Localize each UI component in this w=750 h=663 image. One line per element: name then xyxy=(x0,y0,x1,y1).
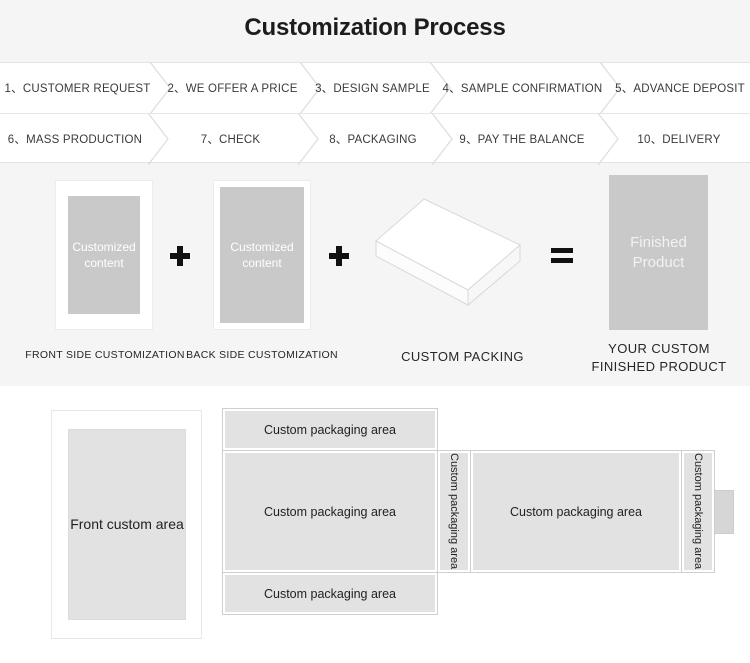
step-3[interactable]: 3、DESIGN SAMPLE xyxy=(310,63,435,113)
front-side-caption: FRONT SIDE CUSTOMIZATION xyxy=(15,348,195,362)
dieline-right-side-panel[interactable]: Custom packaging area xyxy=(681,450,715,573)
plus-operator-icon xyxy=(170,246,190,266)
front-side-swatch: Customized content xyxy=(68,196,140,314)
plus-operator-icon xyxy=(329,246,349,266)
front-side-card: Customized content xyxy=(55,180,153,330)
finished-product-caption: YOUR CUSTOM FINISHED PRODUCT xyxy=(585,340,733,375)
step-9[interactable]: 9、PAY THE BALANCE xyxy=(442,114,602,164)
dieline-center-panel[interactable]: Custom packaging area xyxy=(470,450,682,573)
top-section: Customization Process 1、CUSTOMER REQUEST… xyxy=(0,0,750,386)
dieline-main-panel[interactable]: Custom packaging area xyxy=(222,450,438,573)
step-1[interactable]: 1、CUSTOMER REQUEST xyxy=(0,63,155,113)
step-10[interactable]: 10、DELIVERY xyxy=(608,114,750,164)
front-custom-area-panel[interactable]: Front custom area xyxy=(68,429,186,620)
finished-product-swatch: Finished Product xyxy=(609,175,708,330)
front-custom-area-frame: Front custom area xyxy=(51,410,202,639)
customization-equation: Customized content FRONT SIDE CUSTOMIZAT… xyxy=(0,170,750,375)
dieline-top-flap[interactable]: Custom packaging area xyxy=(222,408,438,451)
step-7[interactable]: 7、CHECK xyxy=(158,114,303,164)
dieline-right-side-label: Custom packaging area xyxy=(692,453,704,569)
back-side-card: Customized content xyxy=(213,180,311,330)
process-steps-row-1: 1、CUSTOMER REQUEST 2、WE OFFER A PRICE 3、… xyxy=(0,63,750,113)
back-side-caption: BACK SIDE CUSTOMIZATION xyxy=(172,348,352,362)
step-5[interactable]: 5、ADVANCE DEPOSIT xyxy=(610,63,750,113)
back-side-swatch: Customized content xyxy=(220,187,304,323)
custom-packing-caption: CUSTOM PACKING xyxy=(370,348,555,366)
step-8[interactable]: 8、PACKAGING xyxy=(308,114,438,164)
dieline-left-side-panel[interactable]: Custom packaging area xyxy=(437,450,471,573)
process-steps-block: 1、CUSTOMER REQUEST 2、WE OFFER A PRICE 3、… xyxy=(0,62,750,163)
page-title: Customization Process xyxy=(0,14,750,42)
dieline-left-side-label: Custom packaging area xyxy=(448,453,460,569)
bottom-section: Front custom area Custom packaging area … xyxy=(0,386,750,663)
dieline-glue-tab[interactable] xyxy=(714,490,734,534)
custom-packing-box-illustration xyxy=(372,195,552,320)
customization-process-page: Customization Process 1、CUSTOMER REQUEST… xyxy=(0,0,750,663)
packaging-dieline: Custom packaging area Custom packaging a… xyxy=(222,408,727,640)
equals-operator-icon xyxy=(551,248,573,264)
dieline-bottom-flap[interactable]: Custom packaging area xyxy=(222,572,438,615)
step-6[interactable]: 6、MASS PRODUCTION xyxy=(0,114,150,164)
step-2[interactable]: 2、WE OFFER A PRICE xyxy=(160,63,305,113)
process-steps-row-2: 6、MASS PRODUCTION 7、CHECK 8、PACKAGING 9、… xyxy=(0,113,750,163)
step-4[interactable]: 4、SAMPLE CONFIRMATION xyxy=(440,63,605,113)
